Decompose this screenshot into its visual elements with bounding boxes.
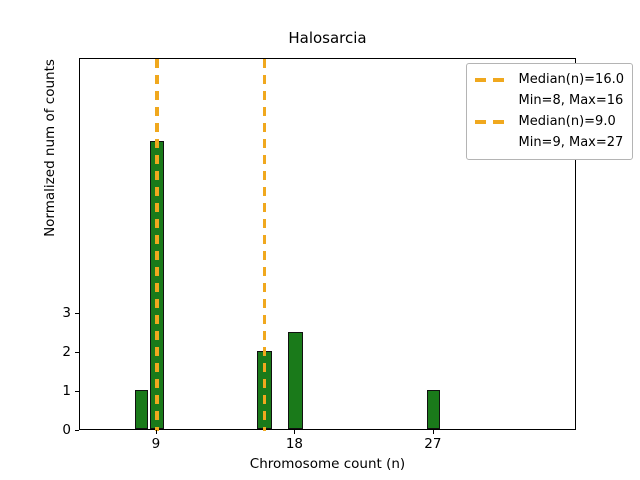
y-tick-label: 3 xyxy=(62,305,71,321)
legend-entry: Median(n)=16.0 xyxy=(475,69,624,90)
x-tick-label: 18 xyxy=(286,436,303,452)
x-tick-label: 27 xyxy=(424,436,441,452)
y-tick-label: 1 xyxy=(62,383,71,399)
x-tick-label: 9 xyxy=(152,436,161,452)
y-tick-mark xyxy=(75,391,79,392)
legend-label: Median(n)=9.0 xyxy=(518,114,615,129)
legend-label: Median(n)=16.0 xyxy=(518,72,624,87)
median-line xyxy=(155,59,158,431)
legend-swatch-empty xyxy=(475,141,509,145)
x-tick-mark xyxy=(433,430,434,434)
matplotlib-figure: Halosarcia 918270123 Chromosome count (n… xyxy=(0,0,640,480)
y-tick-mark xyxy=(75,313,79,314)
legend-swatch-empty xyxy=(475,99,509,103)
legend-label: Min=8, Max=16 xyxy=(518,93,623,108)
y-tick-mark xyxy=(75,430,79,431)
median-line xyxy=(263,59,266,431)
legend-entry: Median(n)=9.0 xyxy=(475,111,624,132)
y-axis-label: Normalized num of counts xyxy=(42,59,58,237)
y-tick-mark xyxy=(75,352,79,353)
legend-label: Min=9, Max=27 xyxy=(518,135,623,150)
legend-entry: Min=8, Max=16 xyxy=(475,90,624,111)
y-tick-label: 0 xyxy=(62,422,71,438)
x-tick-mark xyxy=(156,430,157,434)
dashed-line-icon xyxy=(475,120,509,124)
x-tick-mark xyxy=(294,430,295,434)
y-axis-total-label-wrap: (Total 11) xyxy=(57,0,73,178)
chart-legend: Median(n)=16.0Min=8, Max=16Median(n)=9.0… xyxy=(466,63,633,160)
legend-entry: Min=9, Max=27 xyxy=(475,132,624,153)
chart-title: Halosarcia xyxy=(79,29,576,47)
y-axis-label-wrap: Normalized num of counts xyxy=(42,0,58,358)
x-axis-label: Chromosome count (n) xyxy=(79,456,576,472)
y-tick-label: 2 xyxy=(62,344,71,360)
dashed-line-icon xyxy=(475,78,509,82)
